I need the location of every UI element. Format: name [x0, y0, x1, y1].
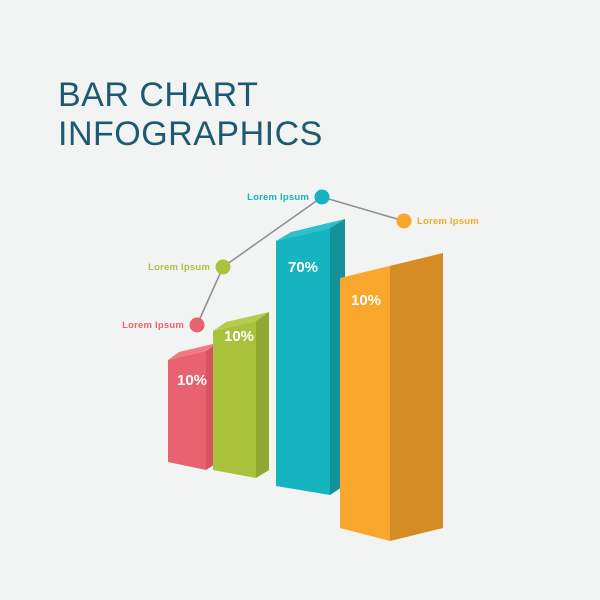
node-4-label: Lorem Ipsum: [417, 216, 479, 227]
infographic-canvas: BAR CHART INFOGRAPHICS 10% 10% 70%: [0, 0, 600, 600]
bar-4-value-label: 10%: [351, 292, 381, 309]
bar-2-side-face: [256, 312, 269, 478]
node-4-group[interactable]: Lorem Ipsum: [397, 214, 479, 229]
node-1-label: Lorem Ipsum: [122, 320, 184, 331]
node-1-group[interactable]: Lorem Ipsum: [122, 318, 204, 333]
bar-4-group[interactable]: 10%: [340, 253, 443, 541]
node-2-group[interactable]: Lorem Ipsum: [148, 260, 230, 275]
bar-4-side-face: [390, 253, 443, 541]
node-3-label: Lorem Ipsum: [247, 192, 309, 203]
bar-1-front-face: [168, 351, 206, 470]
node-2-dot-icon[interactable]: [216, 260, 231, 275]
node-1-dot-icon[interactable]: [190, 318, 205, 333]
node-2-label: Lorem Ipsum: [148, 262, 210, 273]
bar-chart-graphic: 10% 10% 70% 10% Lor: [0, 0, 600, 600]
bar-1-group[interactable]: 10%: [168, 343, 217, 470]
bar-3-group[interactable]: 70%: [276, 219, 345, 495]
node-4-dot-icon[interactable]: [397, 214, 412, 229]
node-3-group[interactable]: Lorem Ipsum: [247, 190, 329, 205]
bar-2-group[interactable]: 10%: [213, 312, 269, 478]
bar-1-value-label: 10%: [177, 372, 207, 389]
bar-2-value-label: 10%: [224, 328, 254, 345]
node-3-dot-icon[interactable]: [315, 190, 330, 205]
bar-3-value-label: 70%: [288, 259, 318, 276]
